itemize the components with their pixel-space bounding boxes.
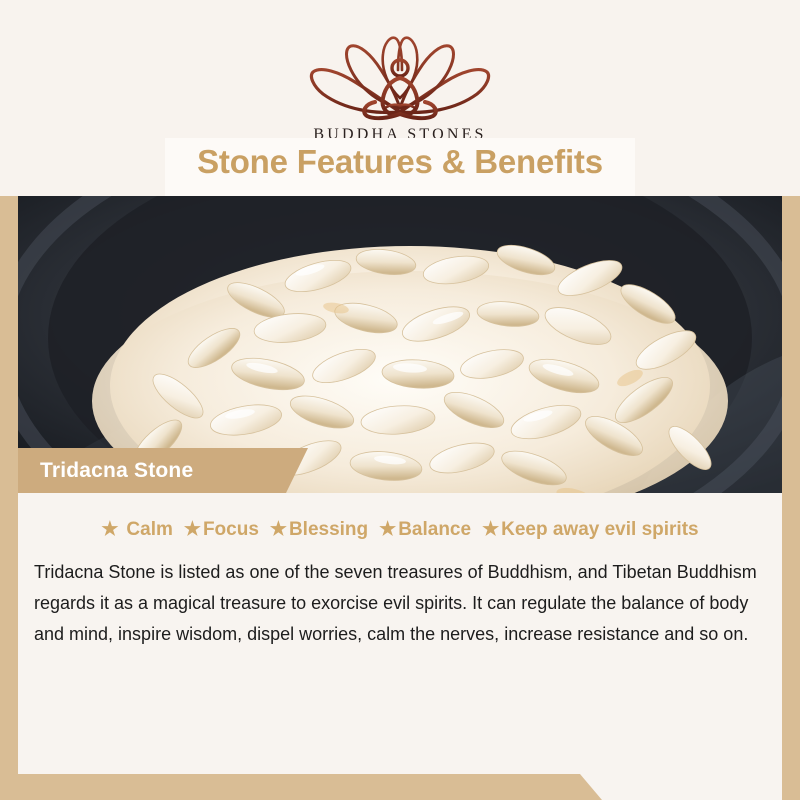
benefit-label: Blessing <box>289 519 368 541</box>
benefit-label: Calm <box>126 519 172 541</box>
star-icon: ★ <box>270 520 287 539</box>
star-icon: ★ <box>482 520 499 539</box>
frame-band-bottom <box>0 774 800 800</box>
product-description: Tridacna Stone is listed as one of the s… <box>34 557 768 650</box>
brand-logo: BUDDHA STONES <box>0 24 800 144</box>
benefit-item-keep-away-evil-spirits: ★ Keep away evil spirits <box>482 519 699 541</box>
benefit-item-calm: ★ Calm <box>101 519 173 541</box>
benefit-item-blessing: ★ Blessing <box>270 519 368 541</box>
product-name: Tridacna Stone <box>18 459 193 483</box>
frame-band-left <box>0 176 18 800</box>
benefits-list: ★ Calm ★ Focus ★ Blessing ★ Balance ★ Ke… <box>18 493 782 541</box>
content-section: ★ Calm ★ Focus ★ Blessing ★ Balance ★ Ke… <box>18 493 782 774</box>
lotus-meditation-icon <box>305 24 495 122</box>
poster-root: BUDDHA STONES Stone Features & Benefits <box>0 0 800 800</box>
benefit-label: Balance <box>398 519 471 541</box>
benefit-item-focus: ★ Focus <box>184 519 259 541</box>
product-name-banner: Tridacna Stone <box>18 448 308 493</box>
benefit-label: Focus <box>203 519 259 541</box>
star-icon: ★ <box>379 520 396 539</box>
star-icon: ★ <box>101 520 118 539</box>
benefit-item-balance: ★ Balance <box>379 519 471 541</box>
benefit-label: Keep away evil spirits <box>501 519 699 541</box>
page-title: Stone Features & Benefits <box>0 143 800 181</box>
star-icon: ★ <box>184 520 201 539</box>
